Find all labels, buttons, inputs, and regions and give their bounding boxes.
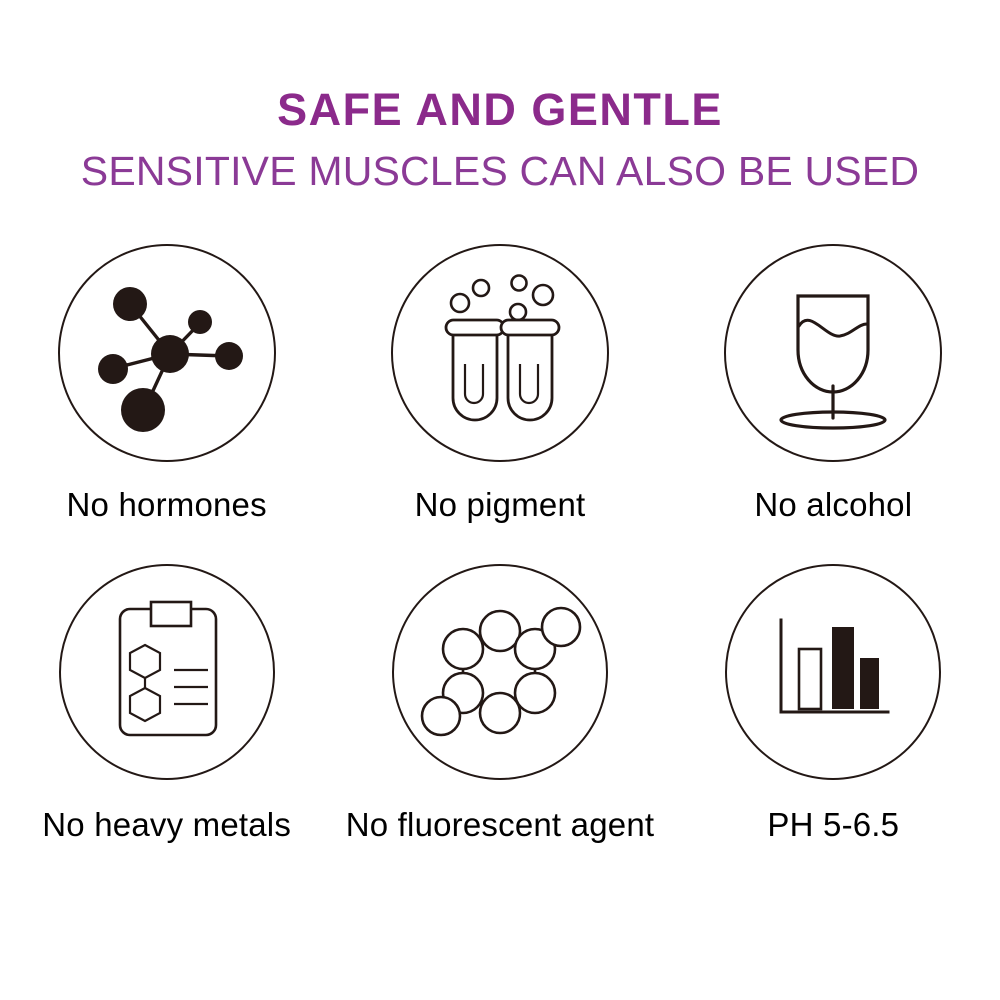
feature-label: No heavy metals: [42, 806, 291, 845]
feature-label: No hormones: [67, 486, 267, 525]
benzene-ring-icon: [415, 587, 585, 757]
clipboard-report-icon: [82, 587, 252, 757]
icon-frame-test-tubes: [391, 244, 609, 462]
icon-frame-clipboard: [59, 564, 275, 780]
icon-frame-molecule: [58, 244, 276, 462]
icon-frame-wine-glass: [724, 244, 942, 462]
feature-grid: No hormones: [0, 244, 1000, 894]
feature-item-no-fluorescent-agent: No fluorescent agent: [333, 564, 666, 894]
feature-row-1: No hormones: [0, 244, 1000, 564]
wine-glass-icon: [748, 268, 918, 438]
feature-label: PH 5-6.5: [767, 806, 899, 845]
feature-row-2: No heavy metals: [0, 564, 1000, 894]
page-title: SAFE AND GENTLE: [0, 86, 1000, 135]
feature-label: No alcohol: [754, 486, 912, 525]
molecule-icon: [82, 268, 252, 438]
icon-frame-bar-chart: [725, 564, 941, 780]
page-subtitle: SENSITIVE MUSCLES CAN ALSO BE USED: [0, 149, 1000, 193]
test-tubes-icon: [415, 268, 585, 438]
feature-item-no-alcohol: No alcohol: [667, 244, 1000, 564]
feature-item-no-pigment: No pigment: [333, 244, 666, 564]
header-block: SAFE AND GENTLE SENSITIVE MUSCLES CAN AL…: [0, 86, 1000, 193]
bar-chart-icon: [748, 587, 918, 757]
feature-label: No fluorescent agent: [346, 806, 655, 845]
feature-item-no-hormones: No hormones: [0, 244, 333, 564]
icon-frame-benzene-ring: [392, 564, 608, 780]
feature-item-no-heavy-metals: No heavy metals: [0, 564, 333, 894]
feature-item-ph-range: PH 5-6.5: [667, 564, 1000, 894]
safe-and-gentle-infographic: SAFE AND GENTLE SENSITIVE MUSCLES CAN AL…: [0, 0, 1000, 1000]
feature-label: No pigment: [415, 486, 586, 525]
